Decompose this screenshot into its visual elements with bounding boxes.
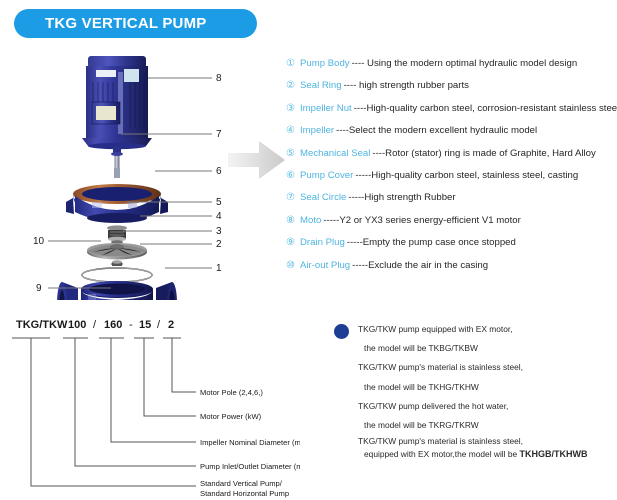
- legend-description-6: -----High-quality carbon steel, stainles…: [355, 170, 578, 181]
- legend-number-1: ①: [286, 58, 300, 69]
- model-code-sep-1: /: [93, 319, 97, 331]
- legend-item-7: ⑦ Seal Circle -----High strength Rubber: [286, 192, 617, 214]
- seal-ring-part: [82, 268, 152, 282]
- callout-number-7: 7: [216, 130, 222, 140]
- legend-part-name-7: Seal Circle: [300, 192, 346, 203]
- callout-number-3: 3: [216, 227, 222, 237]
- model-code-sep-3: /: [157, 319, 161, 331]
- parts-legend-list: ① Pump Body ---- Using the modern optima…: [286, 58, 617, 282]
- page-title: TKG VERTICAL PUMP: [14, 15, 206, 32]
- legend-item-4: ④ Impeller ----Select the modern excelle…: [286, 125, 617, 147]
- legend-item-6: ⑥ Pump Cover -----High-quality carbon st…: [286, 170, 617, 192]
- note-line-7: TKG/TKW pump's material is stainless ste…: [358, 435, 617, 448]
- note-line-5: TKG/TKW pump delivered the hot water,: [358, 397, 617, 416]
- legend-part-name-9: Drain Plug: [300, 237, 345, 248]
- callout-number-9: 9: [36, 284, 42, 294]
- motor-shaft-part: [111, 146, 123, 178]
- callout-number-5: 5: [216, 198, 222, 208]
- pump-body-part: [57, 281, 177, 300]
- impeller-part: [87, 243, 147, 260]
- model-code-poles: 2: [168, 319, 174, 331]
- mechanical-seal-part: [107, 225, 127, 243]
- note-line-2: the model will be TKBG/TKBW: [358, 339, 617, 358]
- legend-part-name-5: Mechanical Seal: [300, 148, 370, 159]
- legend-item-10: ⑩ Air-out Plug -----Exclude the air in t…: [286, 260, 617, 282]
- motor-part: [82, 56, 152, 149]
- note-line-6: the model will be TKRG/TKRW: [358, 416, 617, 435]
- legend-description-3: ----High-quality carbon steel, corrosion…: [354, 103, 617, 114]
- legend-item-1: ① Pump Body ---- Using the modern optima…: [286, 58, 617, 80]
- legend-part-name-1: Pump Body: [300, 58, 350, 69]
- legend-number-3: ③: [286, 103, 300, 114]
- model-code-impeller-dia: 160: [104, 319, 122, 331]
- legend-description-7: -----High strength Rubber: [348, 192, 455, 203]
- legend-number-2: ②: [286, 80, 300, 91]
- impeller-nut-part: [111, 260, 123, 266]
- legend-number-8: ⑧: [286, 215, 300, 226]
- model-code-power: 15: [139, 319, 151, 331]
- legend-part-name-6: Pump Cover: [300, 170, 353, 181]
- callout-number-6: 6: [216, 167, 222, 177]
- model-annotation-standard-horiz: Standard Horizontal Pump: [200, 489, 289, 498]
- legend-number-9: ⑨: [286, 237, 300, 248]
- legend-description-1: ---- Using the modern optimal hydraulic …: [352, 58, 578, 69]
- callout-number-4: 4: [216, 212, 222, 222]
- legend-number-6: ⑥: [286, 170, 300, 181]
- legend-number-5: ⑤: [286, 148, 300, 159]
- legend-description-4: ----Select the modern excellent hydrauli…: [336, 125, 537, 136]
- model-annotation-inlet-outlet: Pump Inlet/Outlet Diameter (mm): [200, 462, 300, 471]
- bullet-dot-icon: [334, 324, 349, 339]
- model-designation-diagram: TKG/TKW 100 / 160 - 15 / 2: [0, 306, 300, 500]
- legend-description-8: -----Y2 or YX3 series energy-efficient V…: [323, 215, 520, 226]
- callout-number-2: 2: [216, 240, 222, 250]
- legend-number-7: ⑦: [286, 192, 300, 203]
- legend-description-10: -----Exclude the air in the casing: [352, 260, 488, 271]
- legend-number-10: ⑩: [286, 260, 300, 271]
- right-arrow-icon: [228, 138, 286, 182]
- exploded-pump-diagram: [0, 42, 240, 300]
- legend-part-name-2: Seal Ring: [300, 80, 342, 91]
- note-line-3: TKG/TKW pump's material is stainless ste…: [358, 358, 617, 377]
- callout-number-1: 1: [216, 264, 222, 274]
- note-line-8: equipped with EX motor,the model will be…: [358, 448, 617, 461]
- legend-description-2: ---- high strength rubber parts: [344, 80, 469, 91]
- callout-number-10: 10: [33, 237, 44, 247]
- legend-description-9: -----Empty the pump case once stopped: [347, 237, 516, 248]
- legend-number-4: ④: [286, 125, 300, 136]
- note-line-1: TKG/TKW pump equipped with EX motor,: [358, 320, 617, 339]
- legend-part-name-10: Air-out Plug: [300, 260, 350, 271]
- legend-item-3: ③ Impeller Nut ----High-quality carbon s…: [286, 103, 617, 125]
- legend-item-8: ⑧ Moto -----Y2 or YX3 series energy-effi…: [286, 215, 617, 237]
- note-line-8-text: equipped with EX motor,the model will be: [364, 449, 520, 459]
- model-code-prefix: TKG/TKW: [16, 319, 68, 331]
- model-annotation-impeller-dia: Impeller Nominal Diameter (mm): [200, 438, 300, 447]
- note-line-8-model: TKHGB/TKHWB: [520, 449, 588, 459]
- model-annotation-motor-power: Motor Power (kW): [200, 412, 262, 421]
- legend-item-2: ② Seal Ring ---- high strength rubber pa…: [286, 80, 617, 102]
- model-code-sep-2: -: [129, 319, 133, 331]
- model-annotation-standard-vert: Standard Vertical Pump/: [200, 479, 283, 488]
- note-line-4: the model will be TKHG/TKHW: [358, 378, 617, 397]
- legend-part-name-8: Moto: [300, 215, 321, 226]
- legend-item-9: ⑨ Drain Plug -----Empty the pump case on…: [286, 237, 617, 259]
- legend-part-name-4: Impeller: [300, 125, 334, 136]
- legend-part-name-3: Impeller Nut: [300, 103, 352, 114]
- model-annotation-motor-pole: Motor Pole (2,4,6,): [200, 388, 263, 397]
- callout-number-8: 8: [216, 74, 222, 84]
- model-code-inlet: 100: [68, 319, 86, 331]
- legend-description-5: ----Rotor (stator) ring is made of Graph…: [372, 148, 595, 159]
- legend-item-5: ⑤ Mechanical Seal ----Rotor (stator) rin…: [286, 148, 617, 170]
- pump-cover-part: [66, 184, 168, 223]
- page-title-banner: TKG VERTICAL PUMP: [14, 9, 257, 38]
